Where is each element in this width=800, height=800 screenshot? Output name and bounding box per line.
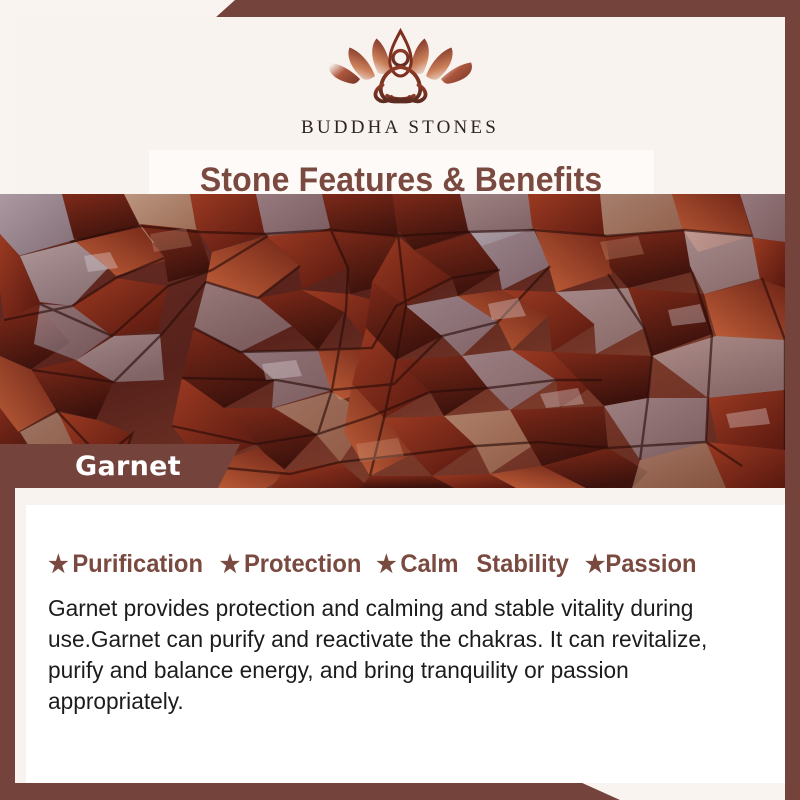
benefits-list: ★ Purification ★ Protection ★ Calm Stabi…: [26, 550, 785, 579]
benefit-label: Calm: [401, 550, 459, 579]
description-text: Garnet provides protection and calming a…: [48, 593, 741, 717]
brand-block: BUDDHA STONES: [15, 17, 785, 150]
star-icon: ★: [376, 553, 396, 577]
poster-card: BUDDHA STONES Stone Features & Benefits: [15, 17, 785, 783]
benefit-protection: ★ Protection: [220, 550, 362, 579]
benefit-stability: Stability: [476, 550, 568, 579]
benefit-purification: ★ Purification: [48, 550, 203, 579]
benefit-label: Passion: [605, 550, 696, 579]
stone-name-label: Garnet: [75, 451, 181, 482]
benefit-label: Protection: [244, 550, 361, 579]
benefit-label: Stability: [476, 550, 568, 579]
poster-root: BUDDHA STONES Stone Features & Benefits: [0, 0, 800, 800]
frame-bottom-accent: [0, 782, 620, 800]
content-panel: ★ Purification ★ Protection ★ Calm Stabi…: [26, 505, 785, 783]
frame-right-accent: [785, 0, 800, 800]
brand-name: BUDDHA STONES: [301, 117, 499, 139]
star-icon: ★: [220, 553, 240, 577]
content-section: ★ Purification ★ Protection ★ Calm Stabi…: [15, 488, 785, 783]
benefit-passion: ★ Passion: [585, 550, 697, 579]
star-icon: ★: [585, 553, 605, 577]
hero-image: Garnet: [0, 194, 785, 488]
stone-name-tag: Garnet: [0, 444, 240, 488]
frame-left-accent: [0, 485, 15, 800]
star-icon: ★: [48, 553, 68, 577]
lotus-meditation-icon: [318, 25, 483, 115]
garnet-crystal-cluster-photo: [0, 194, 785, 488]
frame-top-accent: [215, 0, 800, 18]
benefit-label: Purification: [72, 550, 203, 579]
benefit-calm: ★ Calm: [376, 550, 458, 579]
